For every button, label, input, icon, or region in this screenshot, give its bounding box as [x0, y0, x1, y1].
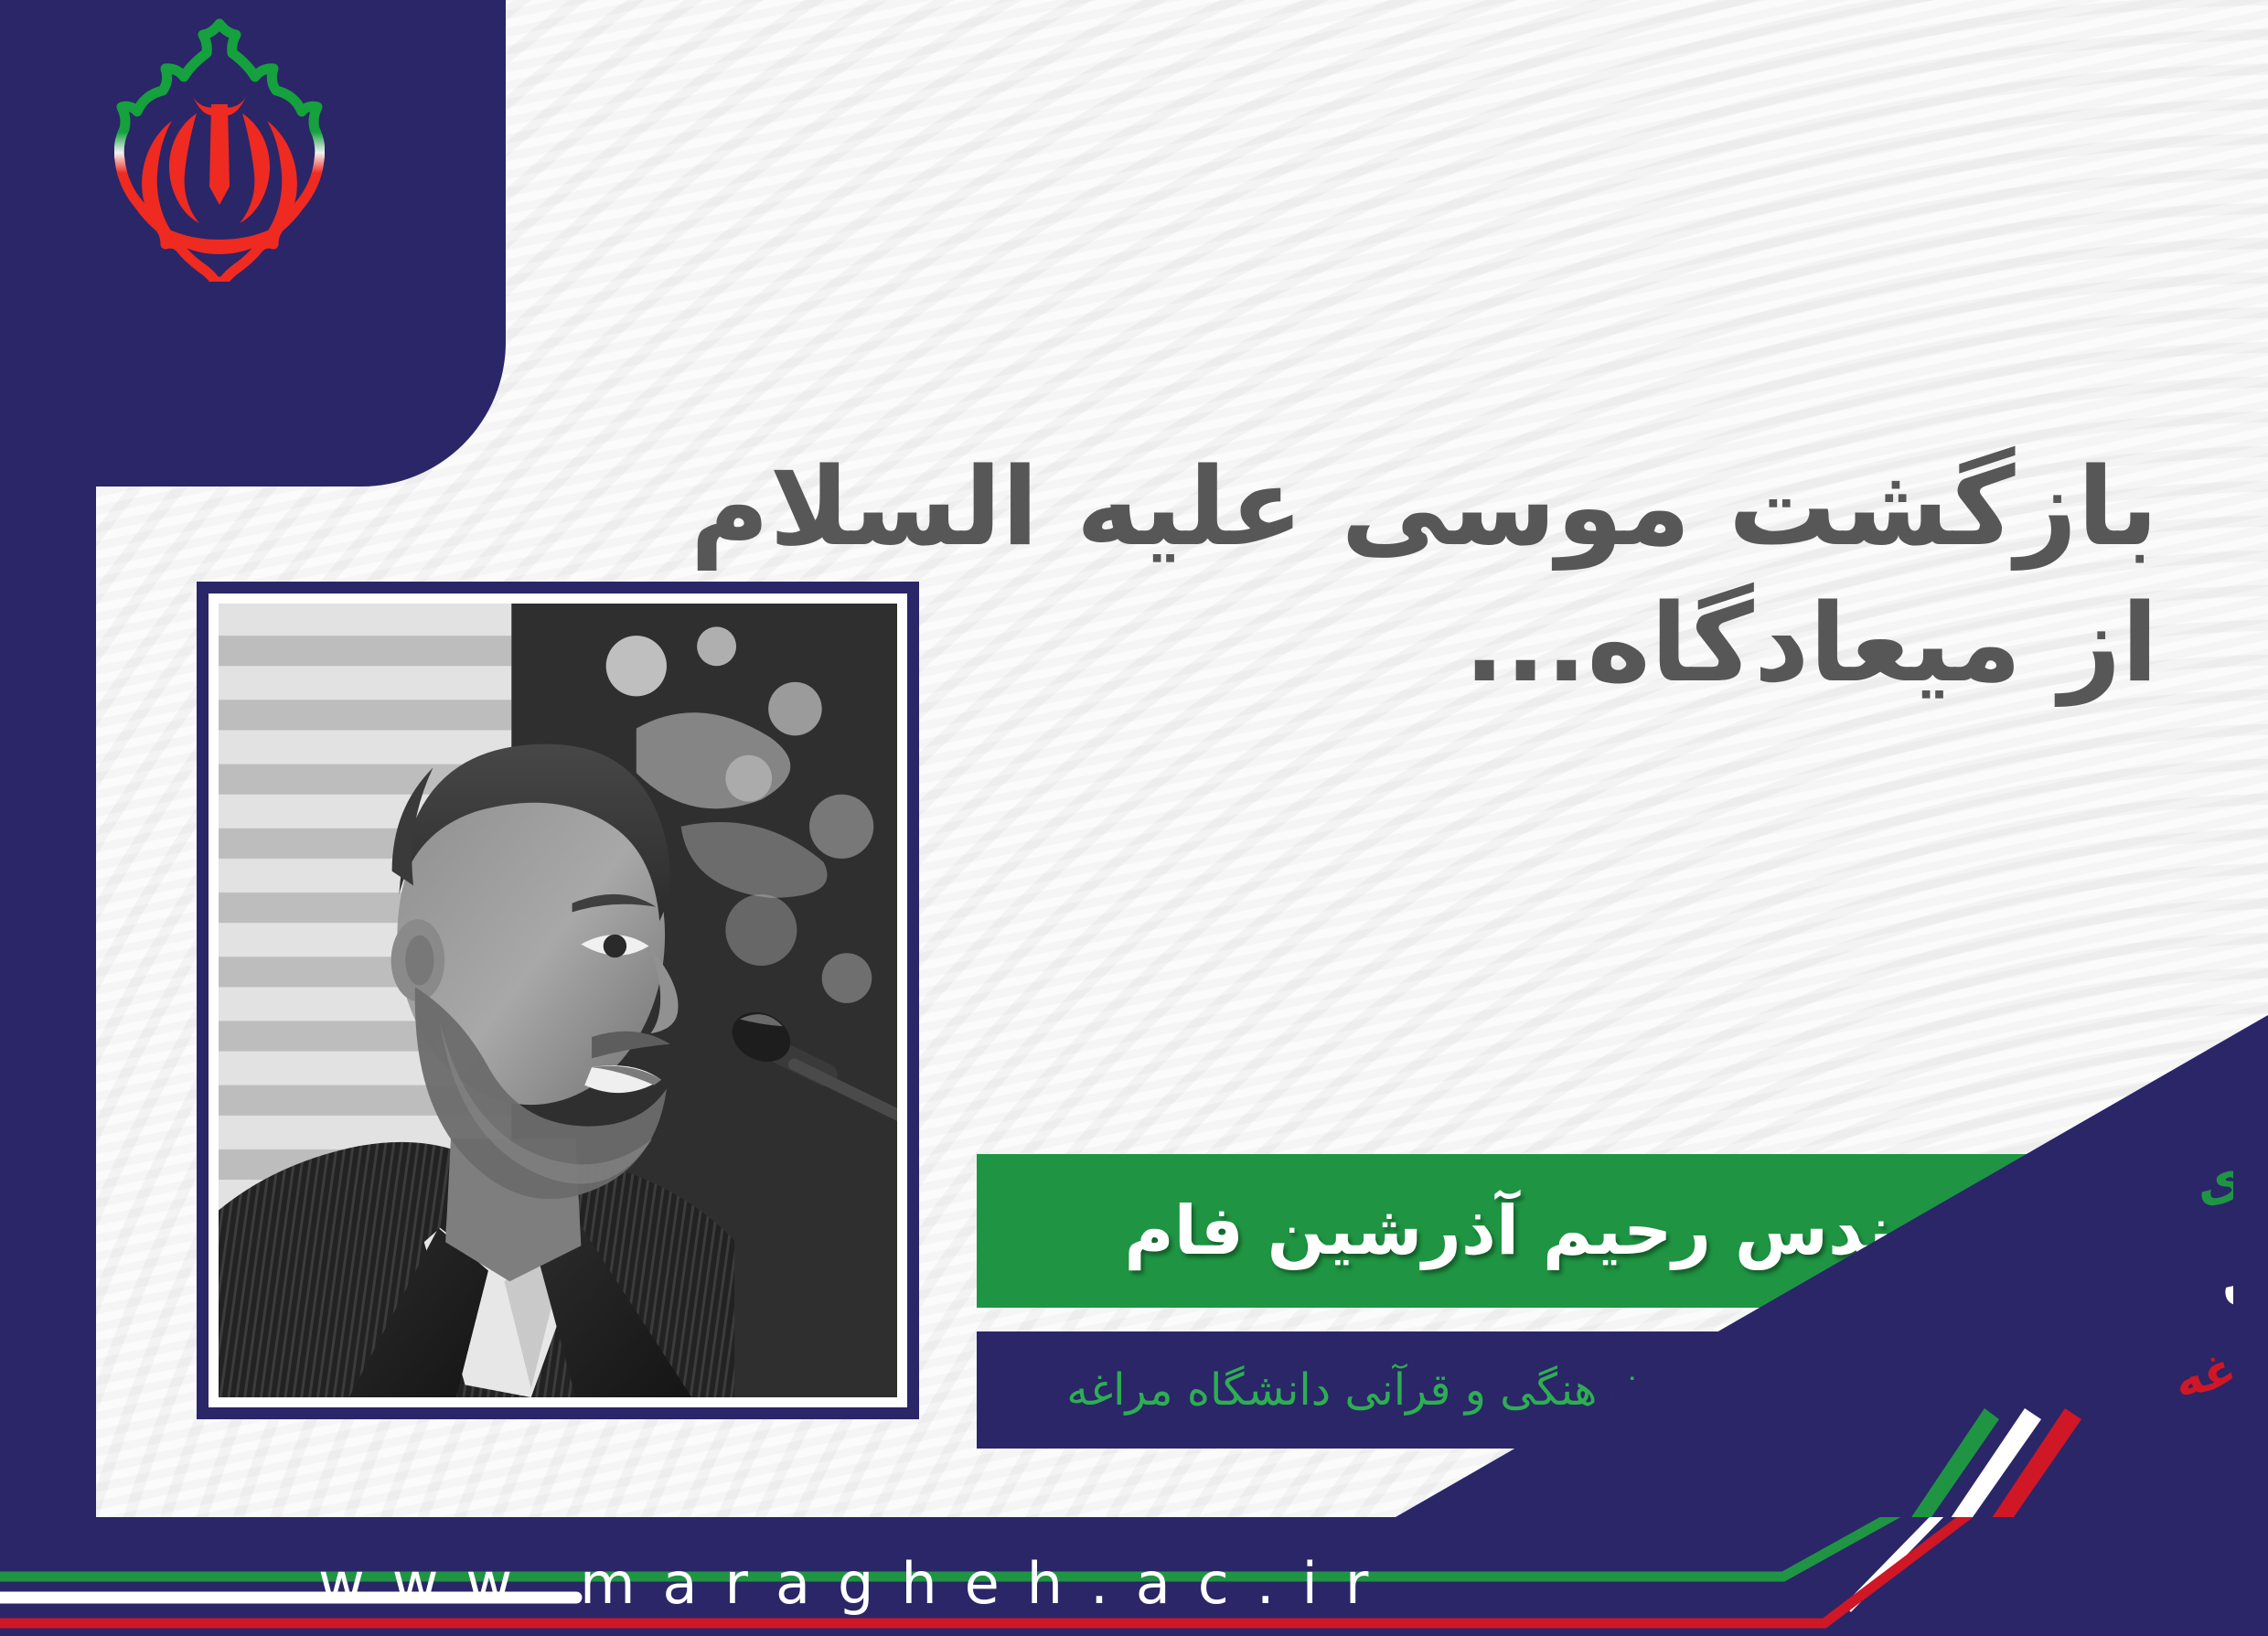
- poster-canvas: بازگشت موسی علیه السلام از میعادگاه...: [0, 0, 2268, 1636]
- poster-title: بازگشت موسی علیه السلام از میعادگاه...: [786, 439, 2158, 711]
- logo-line-green: قرارگاه فضای مجازی: [2188, 1149, 2233, 1216]
- iran-emblem-icon: [114, 16, 325, 282]
- website-url[interactable]: www.maragheh.ac.ir: [318, 1550, 1781, 1617]
- title-line-2: از میعادگاه...: [786, 575, 2158, 711]
- header-navy-block: [0, 0, 506, 487]
- speaker-portrait: [219, 604, 897, 1397]
- organization-logo: قرارگاه فضای مجازی شهید مالک رحمتی دانشگ…: [1794, 1149, 2233, 1515]
- speaker-photo-frame: [197, 582, 919, 1419]
- speaker-role-band: کارشناس فرهنگی و قرآنی دانشگاه مراغه: [977, 1331, 1919, 1449]
- title-line-1: بازگشت موسی علیه السلام: [786, 439, 2158, 575]
- speaker-role: کارشناس فرهنگی و قرآنی دانشگاه مراغه: [1066, 1364, 1828, 1416]
